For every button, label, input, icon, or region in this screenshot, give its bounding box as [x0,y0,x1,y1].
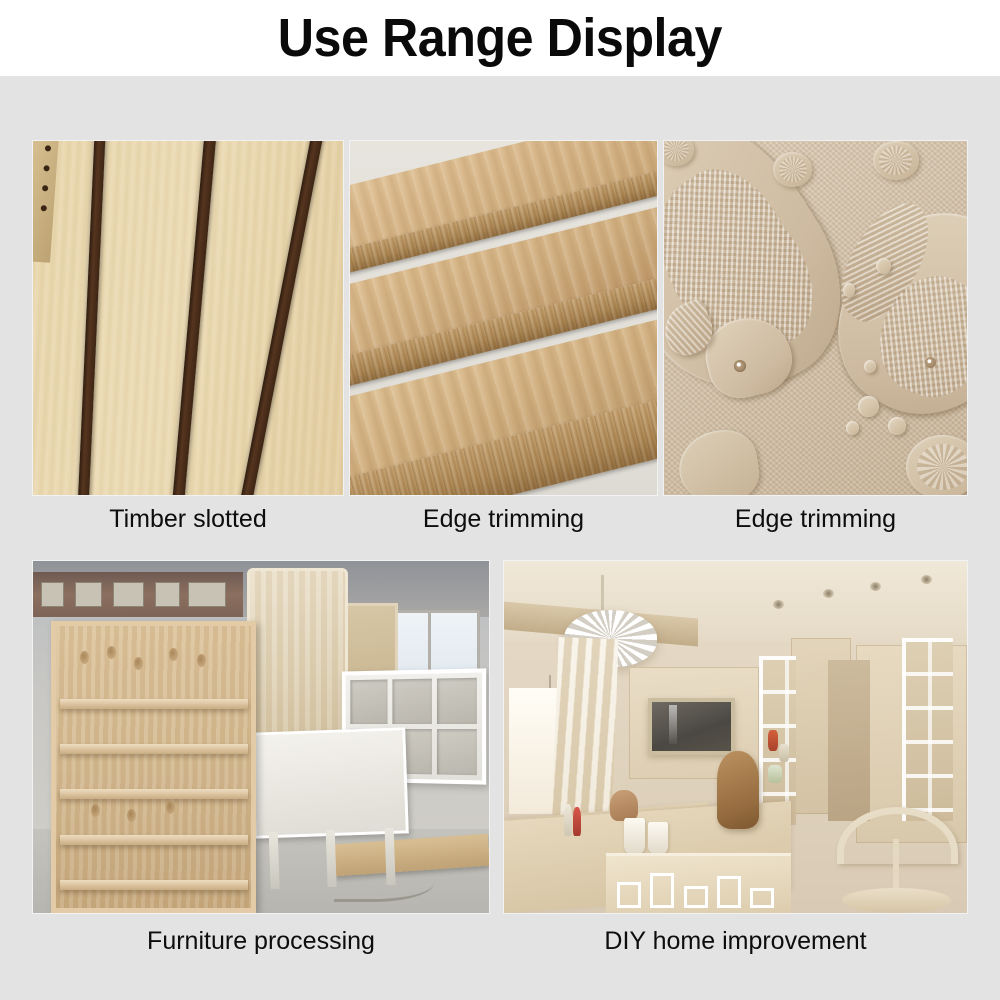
red-bottle [573,807,581,835]
caption-edge-trimming-relief: Edge trimming [735,504,896,534]
white-bottle [564,804,572,836]
ceramic-pot [610,790,638,822]
wall-mounted-tv [648,698,736,754]
page-header: Use Range Display [0,0,1000,76]
lotus-pad-3 [873,141,918,180]
ceiling-downlight-3 [870,582,881,591]
timber-slotted-image[interactable] [32,140,344,496]
white-work-table [250,727,409,838]
caption-timber-slotted: Timber slotted [109,504,266,534]
wooden-vase [717,751,759,828]
carved-bubble-5 [846,421,860,435]
page-title: Use Range Display [278,11,722,65]
shelf-decor-plant [768,765,782,783]
paper-cup-2 [648,822,668,854]
koi-fish-right-eye [925,357,936,368]
edge-trimming-relief-image[interactable] [663,140,968,496]
use-range-gallery: Timber slotted Edge trimming [0,76,1000,1000]
gallery-row-2: Furniture processing [0,560,1000,980]
shelf-decor-object [779,744,788,762]
ceiling-downlight-1 [773,600,784,609]
edge-trimming-boards-image[interactable] [349,140,658,496]
carved-bubble-2 [843,283,856,297]
caption-edge-trimming-boards: Edge trimming [423,504,584,534]
workshop-storage-rack [33,572,243,618]
ceiling-downlight-4 [921,575,932,584]
counter-front-panel [606,853,791,913]
shelf-decor-vase [768,730,778,751]
carved-bubble-4 [858,396,879,417]
wood-lattice-shelf-right [902,638,953,821]
pine-bookshelf [51,621,256,913]
furniture-processing-image[interactable] [32,560,490,914]
paper-cup-1 [624,818,644,853]
caption-furniture-processing: Furniture processing [147,926,375,956]
lotus-pad-4 [906,435,968,496]
wishbone-chair [837,807,957,913]
diy-home-improvement-image[interactable] [503,560,968,914]
gallery-row-1: Timber slotted Edge trimming [0,140,1000,560]
caption-diy-home-improvement: DIY home improvement [604,926,866,956]
doorway-recess [828,660,870,822]
